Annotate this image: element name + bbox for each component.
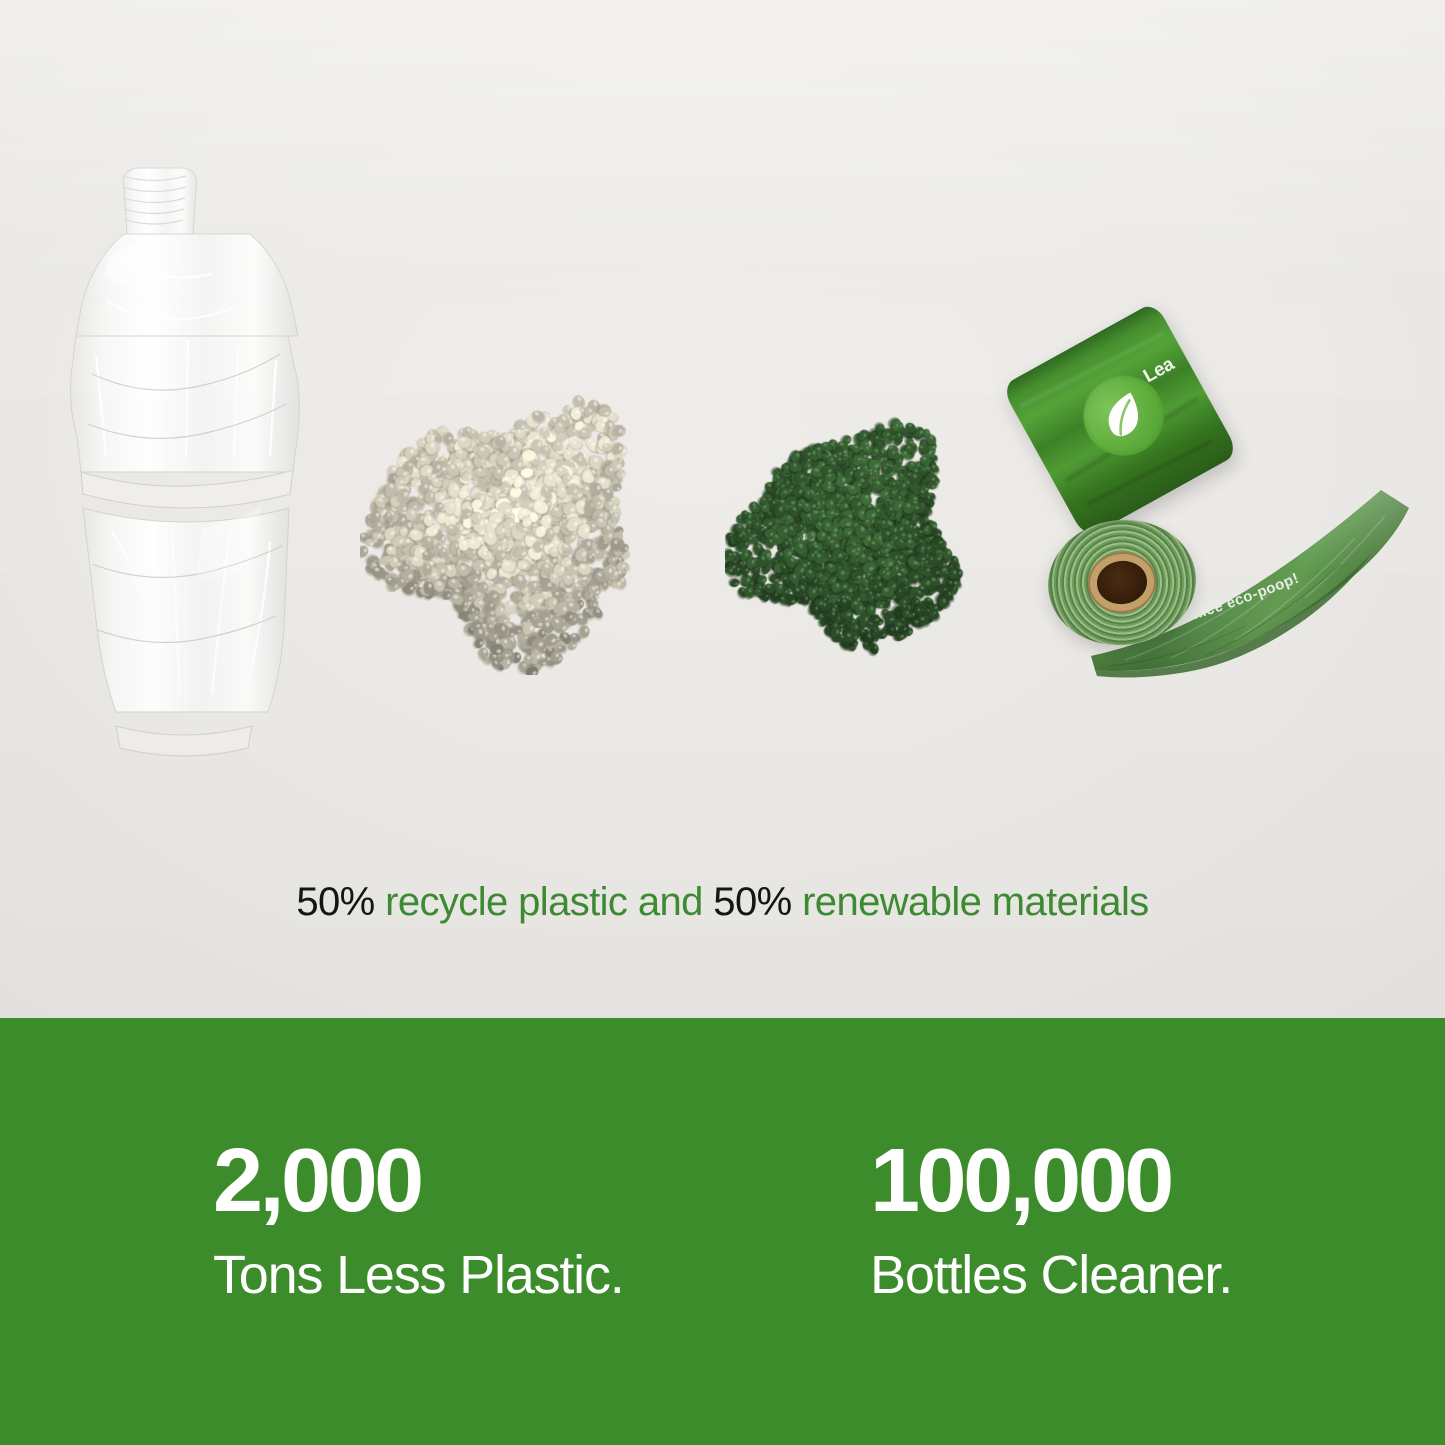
cream-plastic-pellets — [360, 385, 660, 675]
caption-text-2: renewable materials — [792, 880, 1149, 924]
stat-number: 2,000 — [213, 1136, 853, 1226]
stats-row: 2,000 Tons Less Plastic. 100,000 Bottles… — [0, 1136, 1445, 1302]
stat-tons-less-plastic: 2,000 Tons Less Plastic. — [213, 1136, 853, 1302]
product-photo-panel: Lea — [0, 0, 1445, 1018]
stat-label: Bottles Cleaner. — [870, 1248, 1232, 1302]
eco-infographic-poster: Lea — [0, 0, 1445, 1445]
material-caption: 50% recycle plastic and 50% renewable ma… — [0, 880, 1445, 924]
stats-panel: 2,000 Tons Less Plastic. 100,000 Bottles… — [0, 1018, 1445, 1445]
package-brand-text: Lea — [1140, 347, 1191, 388]
caption-percent-2: 50% — [713, 880, 791, 924]
crumpled-clear-plastic-bottle — [52, 160, 322, 760]
stat-number: 100,000 — [870, 1136, 1232, 1226]
caption-percent-1: 50% — [296, 880, 374, 924]
stat-label: Tons Less Plastic. — [213, 1248, 853, 1302]
green-plastic-pellets — [725, 415, 975, 660]
stat-bottles-cleaner: 100,000 Bottles Cleaner. — [870, 1136, 1232, 1302]
green-bag-roll — [1041, 511, 1203, 653]
caption-text-1: recycle plastic and — [375, 880, 714, 924]
